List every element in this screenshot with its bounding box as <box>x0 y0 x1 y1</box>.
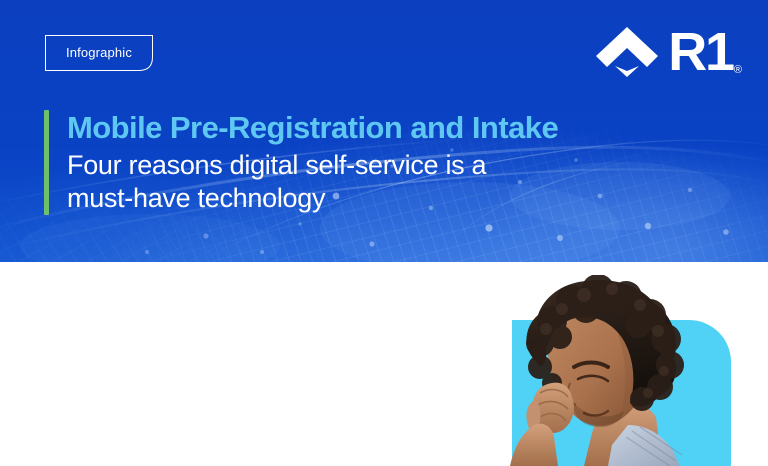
hero-section: Infographic R1 ® Mobile Pre-Registration… <box>0 0 768 262</box>
hero-headline-text: Mobile Pre-Registration and Intake Four … <box>49 110 558 215</box>
logo-text: R1 <box>668 26 733 78</box>
infographic-badge: Infographic <box>45 35 153 71</box>
registered-trademark-icon: ® <box>734 65 742 76</box>
hero-title: Mobile Pre-Registration and Intake <box>67 110 558 146</box>
badge-label: Infographic <box>45 35 153 71</box>
hero-headline-block: Mobile Pre-Registration and Intake Four … <box>44 110 558 215</box>
hero-subtitle: Four reasons digital self-service is a m… <box>67 149 537 215</box>
r1-logo: R1 ® <box>595 26 742 78</box>
content-section: Consumers are frustrated by healthcare’s… <box>0 262 768 466</box>
r1-wordmark: R1 ® <box>668 26 742 78</box>
photo-background-panel <box>512 320 731 466</box>
hero-subtitle-line1: Four reasons digital self-service is a <box>67 150 486 180</box>
r1-chevron-mark-icon <box>595 26 659 78</box>
infographic-page: Infographic R1 ® Mobile Pre-Registration… <box>0 0 768 466</box>
hero-subtitle-line2: must-have technology <box>67 183 325 213</box>
